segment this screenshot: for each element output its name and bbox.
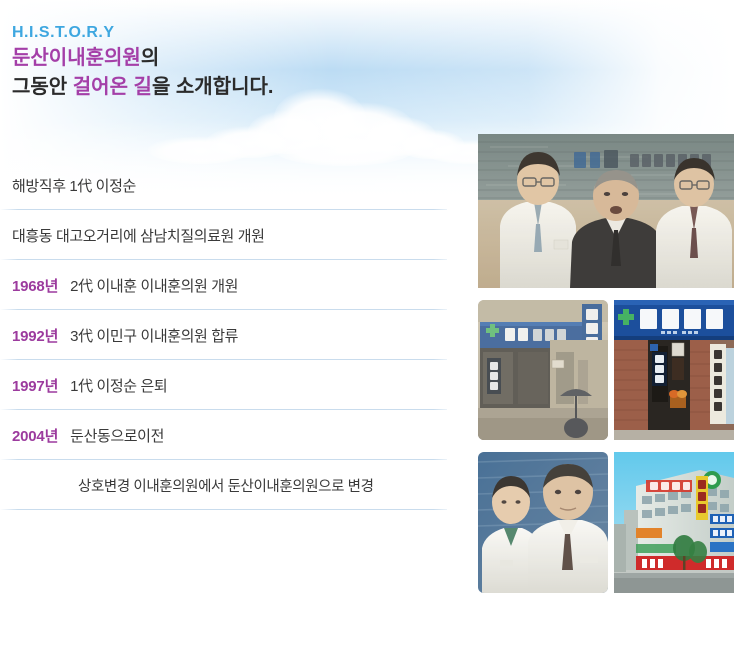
photo-clinic-family <box>478 134 734 288</box>
photo-clinic-entrance <box>614 300 734 440</box>
photo-old-storefront <box>478 300 608 440</box>
history-page: H.I.S.T.O.R.Y 둔산이내훈의원의 그동안 걸어온 길을 소개합니다.… <box>0 0 734 654</box>
photo-new-building <box>614 452 734 593</box>
photo-two-doctors <box>478 452 608 593</box>
photo-gallery <box>0 0 734 654</box>
